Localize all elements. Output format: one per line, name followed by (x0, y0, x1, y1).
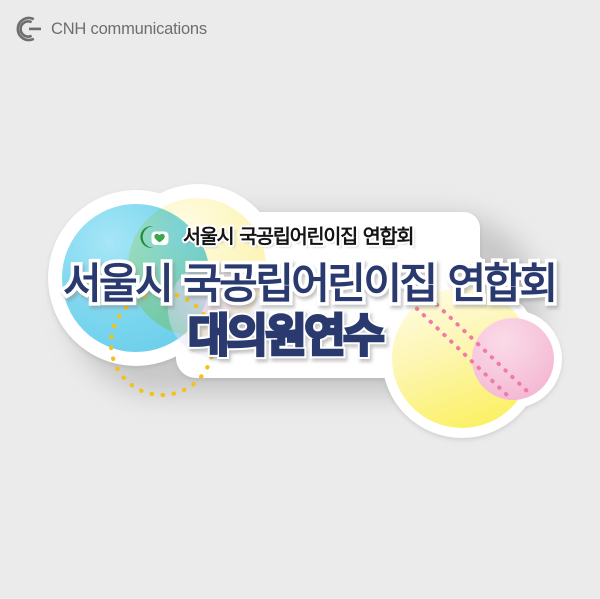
headline-line-1: 서울시 국공립어린이집 연합회 (63, 263, 556, 305)
association-name-text: 서울시 국공립어린이집 연합회 (183, 227, 413, 247)
cnh-c-mark-icon (14, 14, 44, 44)
association-row: 서울시 국공립어린이집 연합회 (131, 222, 413, 252)
seoul-childcare-association-logo-icon (131, 222, 175, 252)
headline-line-2-outline: 대의원연수 (188, 313, 382, 358)
watermark-brand-text: CNH communications (51, 20, 207, 39)
watermark: CNH communications (14, 14, 207, 44)
artwork-canvas: 서울시 국공립어린이집 연합회 서울시 국공립어린이집 연합회 대의원연수 대의… (0, 0, 600, 599)
title-lockup-text: 서울시 국공립어린이집 연합회 서울시 국공립어린이집 연합회 대의원연수 대의… (0, 0, 600, 599)
